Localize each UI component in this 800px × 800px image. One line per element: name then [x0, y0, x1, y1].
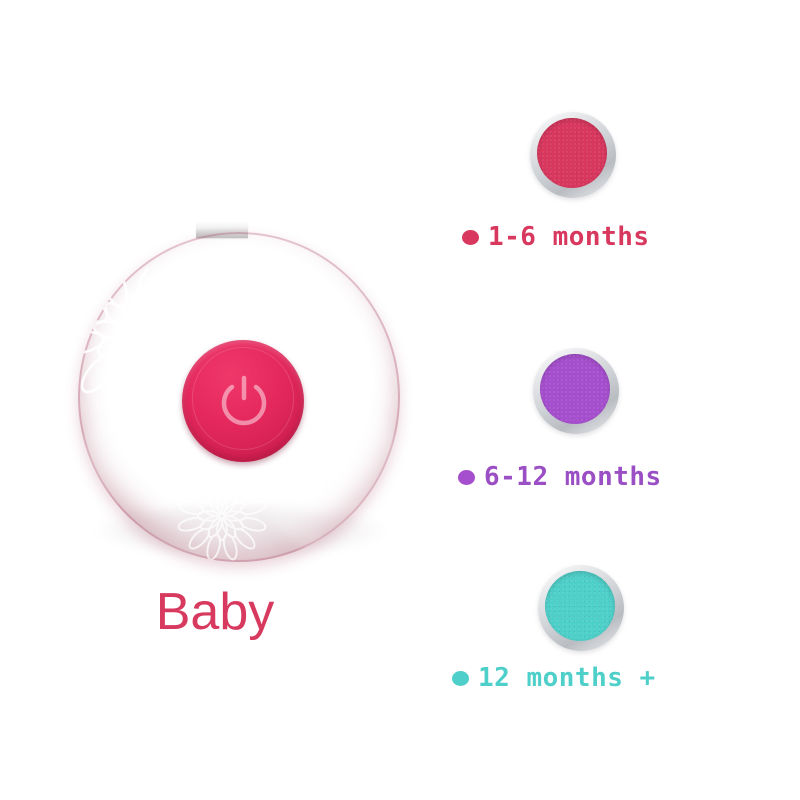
device-panel: Manicure fashion Baby — [0, 0, 430, 800]
power-icon — [218, 374, 270, 428]
sanding-pad-icon[interactable] — [530, 112, 616, 198]
legend-panel: 1-6 months 6-12 months 12 months + — [430, 0, 800, 800]
baby-nail-trimmer-device[interactable]: Manicure fashion — [78, 222, 400, 567]
pad-surface — [540, 354, 610, 424]
sanding-pad-icon[interactable] — [538, 565, 624, 651]
flower-burst-icon — [166, 460, 278, 562]
legend-text: 12 months + — [478, 663, 656, 693]
legend-label: 6-12 months — [458, 462, 662, 492]
page-title: Baby — [0, 586, 430, 638]
product-image-canvas: Manicure fashion Baby — [0, 0, 800, 800]
sanding-pad-icon[interactable] — [533, 348, 619, 434]
legend-bullet-icon — [458, 470, 475, 485]
pad-surface — [537, 118, 607, 188]
legend-label: 12 months + — [452, 663, 656, 693]
legend-label: 1-6 months — [462, 222, 650, 252]
legend-bullet-icon — [452, 671, 469, 686]
legend-text: 1-6 months — [488, 222, 650, 252]
legend-text: 6-12 months — [484, 462, 662, 492]
pad-surface — [545, 571, 615, 641]
legend-bullet-icon — [462, 230, 479, 245]
